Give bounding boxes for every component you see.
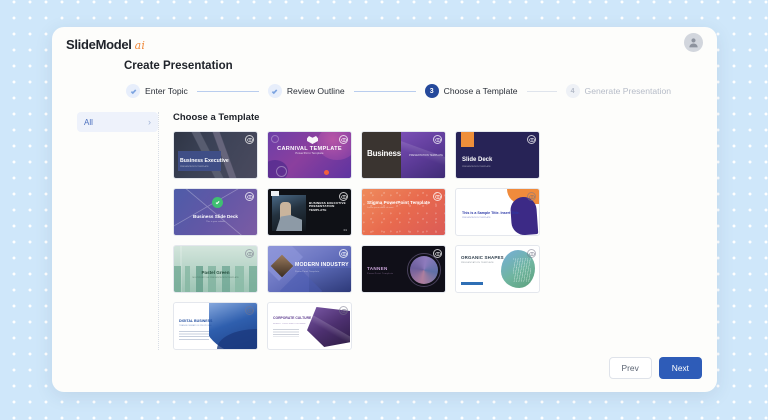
page-title: Create Presentation	[124, 60, 717, 72]
step-connector	[527, 91, 557, 92]
step-connector	[197, 91, 259, 92]
template-title: BUSINESS EXECUTIVE PRESENTATION TEMPLATE	[309, 202, 351, 212]
step-number-badge: 3	[425, 84, 439, 98]
card-art	[273, 329, 299, 337]
template-title-block: Stigma PowerPoint Template Lorem ipsum d…	[367, 200, 430, 210]
template-card[interactable]: Business Slide Deck This is your subtitl…	[173, 188, 258, 236]
template-subtitle: TRANSFORMATION PROPOSAL	[179, 325, 212, 328]
card-art	[212, 197, 223, 208]
eye-icon[interactable]	[527, 192, 536, 201]
card-art	[276, 166, 287, 177]
eye-icon[interactable]	[245, 135, 254, 144]
wizard-footer: Prev Next	[609, 357, 702, 379]
template-grid: Business Executive PRESENTATION TEMPLATE…	[173, 131, 717, 350]
template-subtitle: PowerPoint Template	[268, 153, 351, 156]
eye-icon[interactable]	[527, 135, 536, 144]
eye-icon[interactable]	[339, 306, 348, 315]
template-card[interactable]: This is a Sample Title. Insert Title. PR…	[455, 188, 540, 236]
template-title-block: TANNEN PowerPoint Template	[367, 266, 393, 276]
template-card[interactable]: DIGITAL BUSINESS TRANSFORMATION PROPOSAL	[173, 302, 258, 350]
template-card[interactable]: BUSINESS EXECUTIVE PRESENTATION TEMPLATE…	[267, 188, 352, 236]
eye-icon[interactable]	[527, 249, 536, 258]
step-label: Review Outline	[287, 86, 345, 96]
step-check-icon	[126, 84, 140, 98]
step-generate-presentation[interactable]: 4 Generate Presentation	[566, 84, 671, 98]
template-title-block: CORPORATE CULTURE INSERT YOUR SUBTITLE H…	[273, 317, 311, 325]
eye-icon[interactable]	[339, 192, 348, 201]
template-card[interactable]: CORPORATE CULTURE INSERT YOUR SUBTITLE H…	[267, 302, 352, 350]
template-subtitle: This is your subtitle	[174, 221, 257, 224]
card-art	[410, 256, 438, 284]
brand-logo[interactable]: SlideModelai	[66, 36, 145, 53]
template-gallery: Choose a Template Business Executive PRE…	[158, 112, 717, 350]
eye-icon[interactable]	[245, 306, 254, 315]
step-review-outline[interactable]: Review Outline	[268, 84, 345, 98]
eye-icon[interactable]	[245, 192, 254, 201]
template-card[interactable]: Stigma PowerPoint Template Lorem ipsum d…	[361, 188, 446, 236]
eye-icon[interactable]	[433, 192, 442, 201]
template-title-block: MODERN INDUSTRY PowerPoint Template	[295, 263, 349, 274]
eye-icon[interactable]	[433, 249, 442, 258]
template-title-block: This is a Sample Title. Insert Title. PR…	[462, 211, 520, 220]
step-enter-topic[interactable]: Enter Topic	[126, 84, 188, 98]
step-label: Choose a Template	[444, 86, 518, 96]
card-art	[179, 331, 209, 340]
template-title-block: Pastel Green MULTIPURPOSE PRESENTATION T…	[174, 270, 257, 280]
template-card[interactable]: Business Executive PRESENTATION TEMPLATE	[173, 131, 258, 179]
prev-button[interactable]: Prev	[609, 357, 652, 379]
card-art	[461, 132, 474, 147]
template-title-block: Business	[367, 149, 401, 158]
template-title-block: BUSINESS EXECUTIVE PRESENTATION TEMPLATE	[309, 202, 351, 212]
step-label: Generate Presentation	[585, 86, 671, 96]
gallery-title: Choose a Template	[173, 112, 717, 123]
template-title-block: CARNIVAL TEMPLATE PowerPoint Template	[268, 146, 351, 156]
eye-icon[interactable]	[339, 249, 348, 258]
user-avatar-icon[interactable]	[684, 33, 703, 52]
template-subtitle: PRESENTATION TEMPLATE	[461, 262, 504, 265]
template-subtitle: INSERT YOUR SUBTITLE HERE	[273, 323, 311, 326]
template-subtitle: PRESENTATION TEMPLATE	[409, 154, 443, 157]
chevron-right-icon: ›	[148, 117, 151, 127]
template-title: Pastel Green	[174, 270, 257, 275]
eye-icon[interactable]	[339, 135, 348, 144]
step-number-badge: 4	[566, 84, 580, 98]
template-title: This is a Sample Title. Insert Title.	[462, 211, 520, 215]
card-art	[271, 191, 279, 196]
card-art	[513, 258, 531, 282]
template-subtitle: 01	[344, 228, 347, 232]
eye-icon[interactable]	[245, 249, 254, 258]
template-card[interactable]: ORGANIC SHAPES PRESENTATION TEMPLATE	[455, 245, 540, 293]
template-title-block: Business Executive PRESENTATION TEMPLATE	[180, 159, 229, 170]
template-title: TANNEN	[367, 266, 393, 271]
category-sidebar: All ›	[66, 112, 158, 350]
template-title: ORGANIC SHAPES	[461, 255, 504, 260]
step-connector	[354, 91, 416, 92]
step-choose-template[interactable]: 3 Choose a Template	[425, 84, 518, 98]
template-subtitle: PRESENTATION TEMPLATE	[462, 166, 492, 169]
eye-icon[interactable]	[433, 135, 442, 144]
brand-suffix: ai	[135, 39, 145, 52]
step-label: Enter Topic	[145, 86, 188, 96]
template-card[interactable]: MODERN INDUSTRY PowerPoint Template	[267, 245, 352, 293]
stepper: Enter Topic Review Outline 3 Choose a Te…	[126, 84, 717, 98]
brand-name: SlideModel	[66, 37, 132, 52]
template-subtitle: PRESENTATION TEMPLATE	[462, 217, 520, 220]
template-title: MODERN INDUSTRY	[295, 263, 349, 269]
step-check-icon	[268, 84, 282, 98]
card-art	[271, 135, 279, 143]
template-subtitle: PowerPoint Template	[367, 273, 393, 276]
template-card[interactable]: Pastel Green MULTIPURPOSE PRESENTATION T…	[173, 245, 258, 293]
template-card[interactable]: Slide Deck PRESENTATION TEMPLATE	[455, 131, 540, 179]
template-subtitle: PRESENTATION TEMPLATE	[180, 166, 229, 169]
template-card[interactable]: TANNEN PowerPoint Template	[361, 245, 446, 293]
template-title: Business	[367, 149, 401, 158]
template-subtitle: Lorem ipsum dolor sit amet	[367, 207, 430, 210]
template-card[interactable]: CARNIVAL TEMPLATE PowerPoint Template	[267, 131, 352, 179]
sidebar-item-label: All	[84, 118, 93, 127]
template-title-block: Slide Deck PRESENTATION TEMPLATE	[462, 157, 492, 168]
template-title: Business Executive	[180, 159, 229, 165]
sidebar-item-all[interactable]: All ›	[77, 112, 158, 132]
template-title-block: ORGANIC SHAPES PRESENTATION TEMPLATE	[461, 255, 504, 265]
app-window: SlideModelai Create Presentation Enter T…	[52, 27, 717, 392]
top-bar: SlideModelai	[52, 27, 717, 58]
next-button[interactable]: Next	[659, 357, 702, 379]
template-title: Business Slide Deck	[174, 214, 257, 219]
card-art	[461, 282, 483, 285]
template-subtitle: PowerPoint Template	[295, 271, 349, 274]
card-art	[324, 170, 329, 175]
template-title-block: Business Slide Deck This is your subtitl…	[174, 214, 257, 224]
template-title: DIGITAL BUSINESS	[179, 319, 212, 323]
template-title: Slide Deck	[462, 157, 492, 164]
template-title: Stigma PowerPoint Template	[367, 200, 430, 205]
card-art	[272, 195, 306, 231]
template-title-block: DIGITAL BUSINESS TRANSFORMATION PROPOSAL	[179, 319, 212, 328]
template-card[interactable]: Business PRESENTATION TEMPLATE	[361, 131, 446, 179]
content-area: All › Choose a Template Business Executi…	[52, 112, 717, 350]
template-subtitle: MULTIPURPOSE PRESENTATION TEMPLATE	[174, 277, 257, 280]
template-title: CORPORATE CULTURE	[273, 317, 311, 321]
